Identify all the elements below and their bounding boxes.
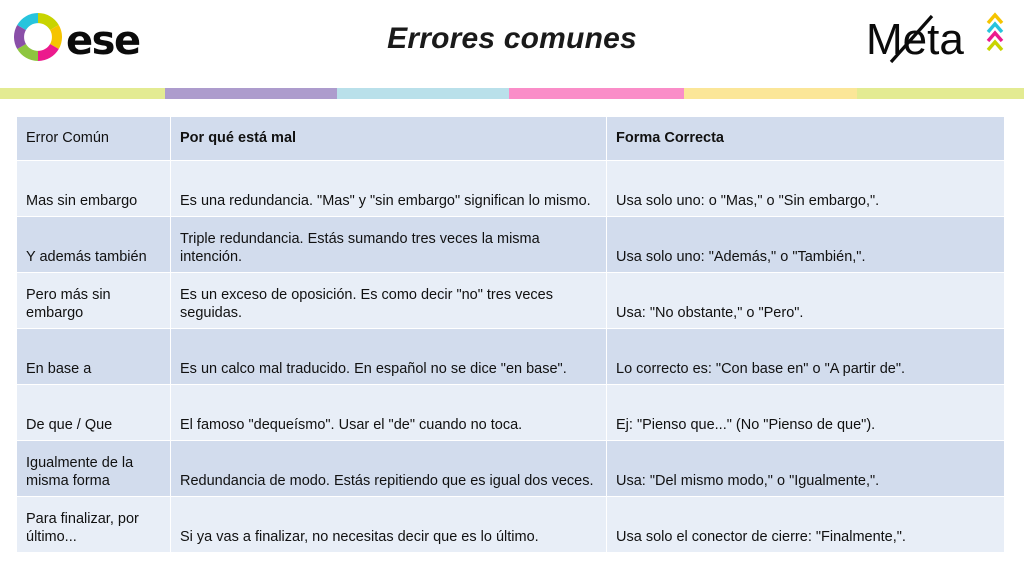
table-row: Y además también Triple redundancia. Est… (17, 217, 1005, 273)
cell-correct: Usa solo uno: o "Mas," o "Sin embargo,". (607, 161, 1005, 217)
table-row: De que / Que El famoso "dequeísmo". Usar… (17, 385, 1005, 441)
slide-header: ese Errores comunes Meta (0, 0, 1024, 86)
cell-error: En base a (17, 329, 171, 385)
cell-correct: Usa solo uno: "Además," o "También,". (607, 217, 1005, 273)
svg-text:Meta: Meta (866, 15, 964, 64)
cell-reason: Es un calco mal traducido. En español no… (171, 329, 607, 385)
colorbar-segment-4 (509, 88, 684, 99)
cell-error: Para finalizar, por último... (17, 497, 171, 553)
cell-reason: El famoso "dequeísmo". Usar el "de" cuan… (171, 385, 607, 441)
cell-reason: Redundancia de modo. Estás repitiendo qu… (171, 441, 607, 497)
cell-correct: Usa: "No obstante," o "Pero". (607, 273, 1005, 329)
cell-correct: Lo correcto es: "Con base en" o "A parti… (607, 329, 1005, 385)
cell-reason: Si ya vas a finalizar, no necesitas deci… (171, 497, 607, 553)
cell-error: Y además también (17, 217, 171, 273)
column-header-error: Error Común (17, 117, 171, 161)
column-header-reason: Por qué está mal (171, 117, 607, 161)
errors-table-container: Error Común Por qué está mal Forma Corre… (16, 116, 1004, 553)
cell-correct: Ej: "Pienso que..." (No "Pienso de que")… (607, 385, 1005, 441)
table-row: Mas sin embargo Es una redundancia. "Mas… (17, 161, 1005, 217)
meta-logo: Meta (864, 8, 1014, 70)
colorbar-segment-2 (165, 88, 337, 99)
column-header-correct: Forma Correcta (607, 117, 1005, 161)
cell-error: Igualmente de la misma forma (17, 441, 171, 497)
common-errors-table: Error Común Por qué está mal Forma Corre… (16, 116, 1005, 553)
cell-error: Mas sin embargo (17, 161, 171, 217)
slide: ese Errores comunes Meta (0, 0, 1024, 566)
table-row: Pero más sin embargo Es un exceso de opo… (17, 273, 1005, 329)
meta-logo-mark: Meta (864, 8, 1014, 70)
table-row: Para finalizar, por último... Si ya vas … (17, 497, 1005, 553)
cell-correct: Usa solo el conector de cierre: "Finalme… (607, 497, 1005, 553)
colorbar-segment-1 (0, 88, 165, 99)
cell-correct: Usa: "Del mismo modo," o "Igualmente,". (607, 441, 1005, 497)
cell-reason: Es una redundancia. "Mas" y "sin embargo… (171, 161, 607, 217)
cell-error: De que / Que (17, 385, 171, 441)
colorbar-segment-5 (684, 88, 857, 99)
cell-error: Pero más sin embargo (17, 273, 171, 329)
cell-reason: Triple redundancia. Estás sumando tres v… (171, 217, 607, 273)
table-header-row: Error Común Por qué está mal Forma Corre… (17, 117, 1005, 161)
colorbar-segment-6 (857, 88, 1024, 99)
table-row: Igualmente de la misma forma Redundancia… (17, 441, 1005, 497)
table-body: Mas sin embargo Es una redundancia. "Mas… (17, 161, 1005, 553)
colorbar-segment-3 (337, 88, 509, 99)
cell-reason: Es un exceso de oposición. Es como decir… (171, 273, 607, 329)
table-row: En base a Es un calco mal traducido. En … (17, 329, 1005, 385)
table-header: Error Común Por qué está mal Forma Corre… (17, 117, 1005, 161)
decorative-color-bar (0, 88, 1024, 99)
